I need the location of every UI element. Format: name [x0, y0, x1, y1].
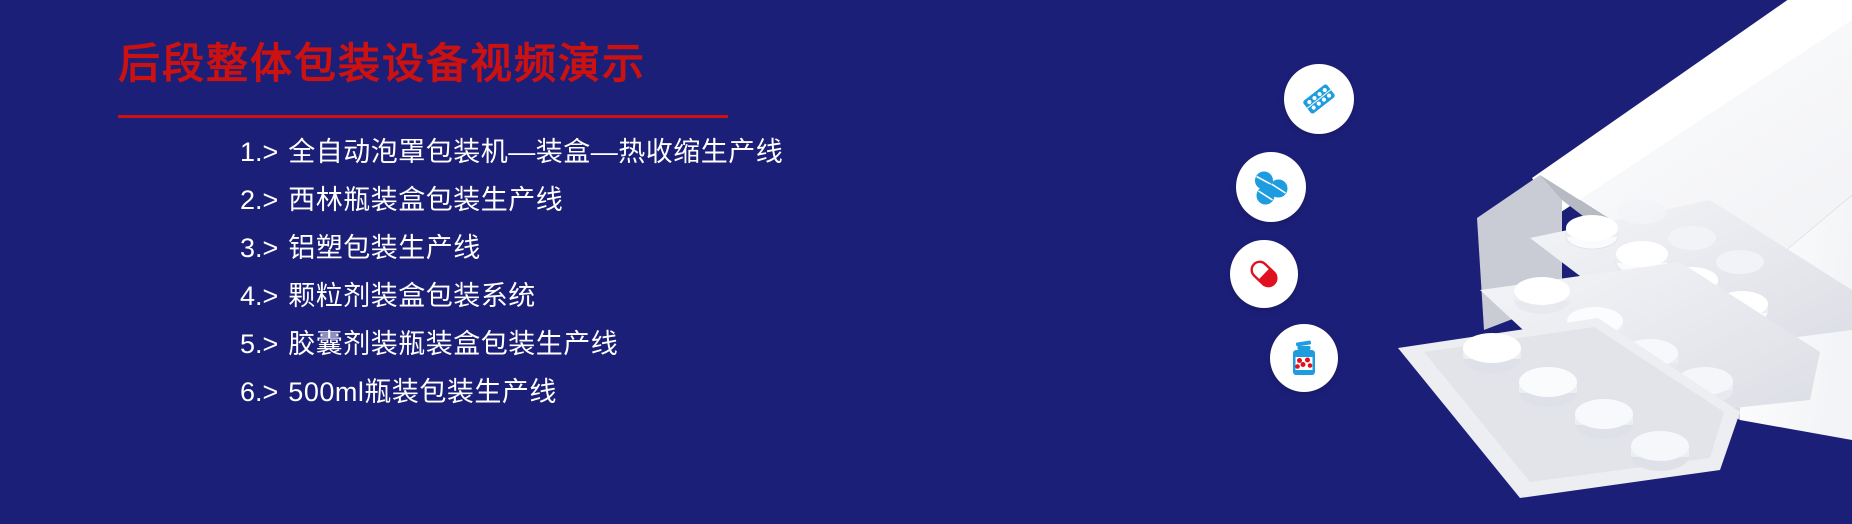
text-block: 后段整体包装设备视频演示 1.> 全自动泡罩包装机—装盒—热收缩生产线 2.> …: [0, 0, 980, 524]
pill-bottle-glyph: [1282, 336, 1326, 380]
list-item-index: 2.>: [240, 185, 278, 216]
list-item[interactable]: 4.> 颗粒剂装盒包装系统: [240, 274, 960, 322]
capsule-icon: [1230, 240, 1298, 308]
list-item[interactable]: 1.> 全自动泡罩包装机—装盒—热收缩生产线: [240, 130, 960, 178]
video-list: 1.> 全自动泡罩包装机—装盒—热收缩生产线 2.> 西林瓶装盒包装生产线 3.…: [240, 130, 960, 418]
list-item-index: 3.>: [240, 233, 278, 264]
list-item-index: 6.>: [240, 377, 278, 408]
list-item[interactable]: 5.> 胶囊剂装瓶装盒包装生产线: [240, 322, 960, 370]
capsule-glyph: [1242, 252, 1286, 296]
tablets-icon: [1236, 152, 1306, 222]
list-item-index: 4.>: [240, 281, 278, 312]
list-item-label: 铝塑包装生产线: [288, 226, 481, 265]
title-underline-rule: [118, 115, 728, 118]
list-item-index: 1.>: [240, 137, 278, 168]
promo-banner: 后段整体包装设备视频演示 1.> 全自动泡罩包装机—装盒—热收缩生产线 2.> …: [0, 0, 1852, 524]
list-item-label: 全自动泡罩包装机—装盒—热收缩生产线: [288, 130, 783, 169]
blister-pack-icon: [1284, 64, 1354, 134]
list-item-label: 胶囊剂装瓶装盒包装生产线: [288, 322, 618, 361]
blister-pack-glyph: [1296, 76, 1342, 122]
list-item[interactable]: 3.> 铝塑包装生产线: [240, 226, 960, 274]
list-item-label: 颗粒剂装盒包装系统: [288, 274, 536, 313]
list-item-index: 5.>: [240, 329, 278, 360]
list-item-label: 500ml瓶装包装生产线: [288, 370, 557, 409]
page-title: 后段整体包装设备视频演示: [118, 40, 646, 88]
list-item[interactable]: 6.> 500ml瓶装包装生产线: [240, 370, 960, 418]
pill-bottle-icon: [1270, 324, 1338, 392]
tablets-glyph: [1248, 164, 1294, 210]
carton-blister-pack-illustration: [1380, 0, 1852, 524]
list-item-label: 西林瓶装盒包装生产线: [288, 178, 563, 217]
list-item[interactable]: 2.> 西林瓶装盒包装生产线: [240, 178, 960, 226]
